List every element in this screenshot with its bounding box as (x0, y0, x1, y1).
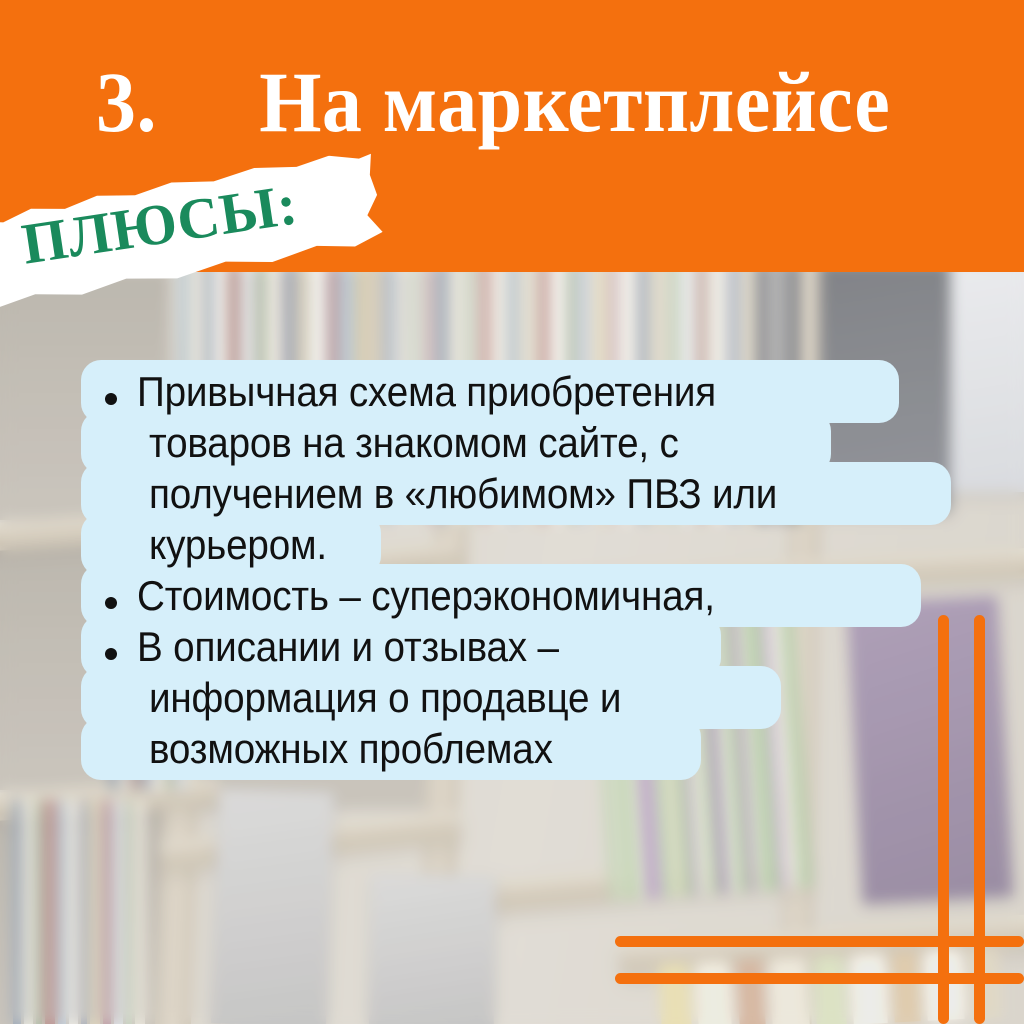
bullet-line: возможных проблемах (105, 723, 662, 774)
bullet-text: информация о продавце и (149, 672, 621, 723)
bullet-dot (105, 597, 117, 609)
list-item: В описании и отзывах – информация о прод… (105, 621, 955, 774)
list-item: Стоимость – суперэкономичная, (105, 570, 955, 621)
slide-canvas: 3. На маркетплейсе ПЛЮСЫ: Привычная схем… (0, 0, 1024, 1024)
bullet-text: В описании и отзывах – (137, 621, 559, 672)
bullet-line: В описании и отзывах – (105, 621, 662, 672)
bullet-text: Привычная схема приобретения (137, 366, 716, 417)
bullet-line: товаров на знакомом сайте, с (105, 417, 832, 468)
decor-horizontal-line (615, 936, 1024, 947)
page-title: 3. На маркетплейсе (96, 56, 914, 149)
bullet-text: курьером. (149, 519, 327, 570)
decor-vertical-line (974, 615, 985, 1024)
bullet-line: Привычная схема приобретения (105, 366, 832, 417)
decor-horizontal-line (615, 973, 1024, 984)
bullet-dot (105, 648, 117, 660)
bullet-list: Привычная схема приобретения товаров на … (105, 366, 955, 774)
bullet-text: возможных проблемах (149, 723, 553, 774)
bullet-text: получением в «любимом» ПВЗ или (149, 468, 777, 519)
bullet-line: курьером. (105, 519, 832, 570)
bullet-text: Стоимость – суперэкономичная, (137, 570, 715, 621)
bullet-line: информация о продавце и (105, 672, 662, 723)
bullet-line: получением в «любимом» ПВЗ или (105, 468, 832, 519)
decor-vertical-line (938, 615, 949, 1024)
bullet-text: товаров на знакомом сайте, с (149, 417, 679, 468)
list-item: Привычная схема приобретения товаров на … (105, 366, 955, 570)
bullet-line: Стоимость – суперэкономичная, (105, 570, 765, 621)
bullet-dot (105, 393, 117, 405)
